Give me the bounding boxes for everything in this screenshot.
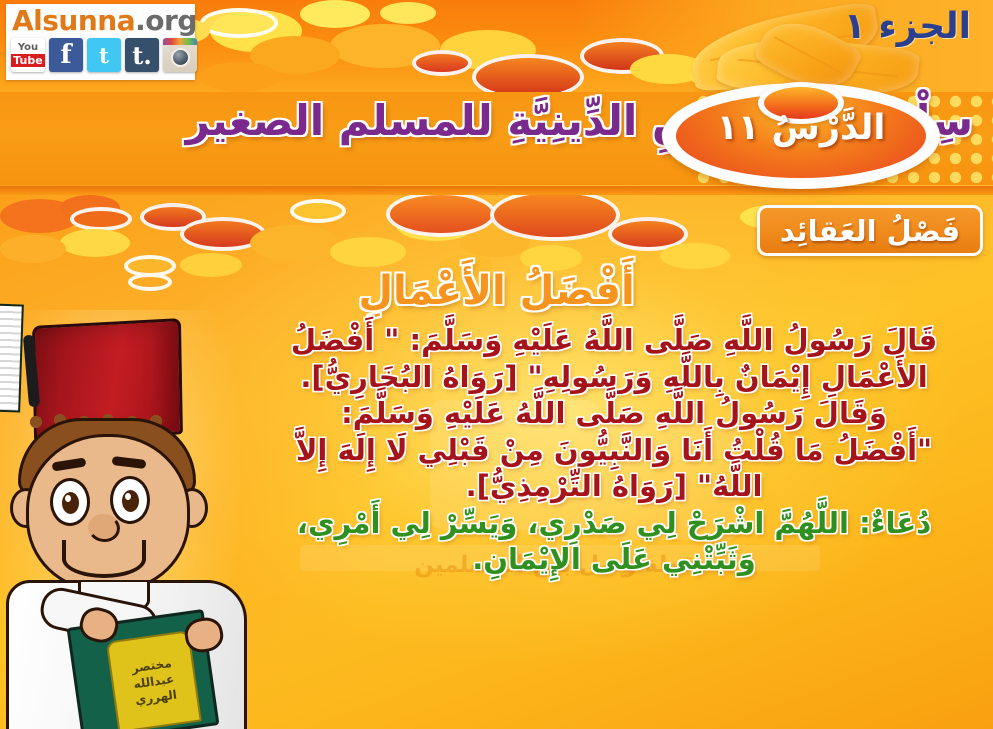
body-line: وَقَالَ رَسُولُ اللَّهِ صَلَّى اللَّهُ ع… [245,395,983,432]
body-line: قَالَ رَسُولُ اللَّهِ صَلَّى اللَّهُ عَل… [245,322,983,359]
decorative-bubble [290,199,346,223]
facebook-glyph: f [60,40,71,70]
body-line: الأَعْمَالِ إِيْمَانٌ بِاللَّهِ وَرَسُول… [245,359,983,396]
muslim-boy-illustration: مختصر عبدالله الهرري [0,300,250,729]
book-label-line: الهرري [134,688,177,708]
youtube-label-top: You [16,43,40,53]
site-logo-text: Alsunna.org [12,4,192,37]
twitter-icon[interactable]: t [87,38,121,72]
twitter-glyph: t [99,43,109,68]
smiling-mouth [62,540,146,578]
decorative-bubble [60,229,130,257]
site-logo-box[interactable]: Alsunna.org You Tube f t t. [6,4,195,80]
strip-divider [0,186,993,195]
social-links-row: You Tube f t t. [11,38,197,72]
instagram-stripe [163,38,197,45]
chapter-badge: فَصْلُ العَقائِد [757,205,983,256]
eye-left [50,478,90,526]
decorative-bubble [200,62,280,92]
youtube-label-bottom: Tube [11,54,45,67]
eye-right [110,476,150,524]
logo-text-primary: Alsunna [12,4,135,37]
pupil-left [62,492,79,514]
decorative-bubble [0,235,66,263]
lesson-number-label: الدَّرْسُ ١١ [662,108,940,148]
decorative-bubble [380,2,436,24]
part-label: الجزء ١ [844,6,971,47]
decorative-bubble [70,207,132,231]
decorative-bubble [472,54,584,92]
chapter-badge-label: فَصْلُ العَقائِد [780,214,960,248]
lesson-body-text: قَالَ رَسُولُ اللَّهِ صَلَّى اللَّهُ عَل… [245,322,983,578]
instagram-icon[interactable] [163,38,197,72]
decorative-bubble [250,225,340,261]
logo-text-secondary: .org [135,4,197,37]
tumblr-icon[interactable]: t. [125,38,159,72]
tumblr-glyph: t. [132,41,151,70]
body-line: دُعَاءٌ: اللَّهُمَّ اشْرَحْ لِي صَدْرِي،… [245,505,983,542]
body-line: وَثَبِّتْنِي عَلَى الإِيْمَانِ. [245,541,983,578]
pupil-right [122,490,139,512]
body-line: اللَّهُ" [رَوَاهُ التِّرْمِذِيُّ]. [245,468,983,505]
youtube-icon[interactable]: You Tube [11,38,45,72]
decorative-bubble [330,237,406,267]
decorative-bubble [660,243,730,269]
decorative-bubble [300,0,370,28]
decorative-bubble [412,50,472,76]
facebook-icon[interactable]: f [49,38,83,72]
lesson-card-page: نقطة وصل بين المسلمين الجزء ١ سِلْسِلَةُ… [0,0,993,729]
book-pages [0,303,24,412]
decorative-bubble [200,8,278,38]
body-line: "أَفْضَلُ مَا قُلْتُ أَنَا وَالنَّبِيُّو… [245,432,983,469]
instagram-lens [171,48,190,67]
